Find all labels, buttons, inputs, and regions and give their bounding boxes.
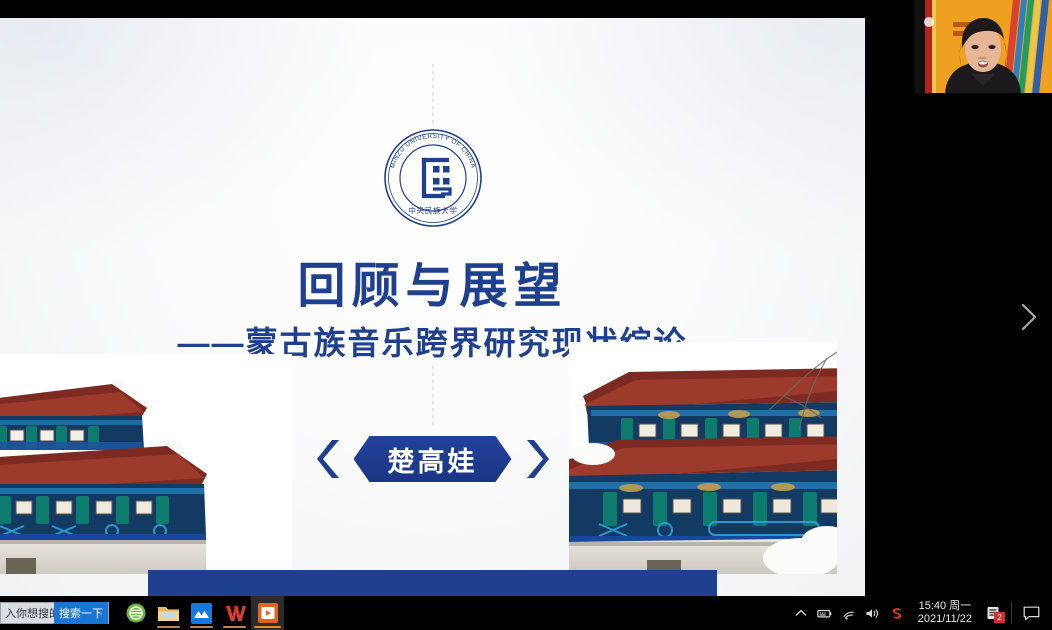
- clock-time: 15:40 周一: [919, 600, 972, 613]
- search-box[interactable]: 入你想搜的 搜索一下: [0, 602, 109, 624]
- taskbar-item-wps-presentation[interactable]: [251, 596, 284, 630]
- show-hidden-icons-button[interactable]: [789, 596, 813, 630]
- slide-bottom-band: [148, 570, 717, 596]
- slide-title: 回顾与展望: [0, 246, 865, 316]
- presentation-slide[interactable]: MINZU UNIVERSITY OF CHINA 中央民族大学 回顾与展望 —…: [0, 18, 865, 596]
- next-slide-button[interactable]: [1012, 292, 1046, 342]
- search-input[interactable]: 入你想搜的: [1, 605, 54, 621]
- clock-date: 2021/11/22: [918, 613, 972, 626]
- notification-center-button[interactable]: 2: [981, 596, 1007, 630]
- presenter-name-banner: 楚高娃: [354, 436, 512, 482]
- chevron-up-icon: [795, 607, 807, 619]
- taskbar-item-sogou-browser[interactable]: [119, 596, 152, 630]
- divider-line-top: [432, 64, 433, 126]
- sogou-ime-icon-button[interactable]: [885, 596, 909, 630]
- tray-divider: [1011, 602, 1012, 624]
- folder-icon: [157, 603, 180, 623]
- notification-badge: 2: [994, 612, 1005, 623]
- screen-root: MINZU UNIVERSITY OF CHINA 中央民族大学 回顾与展望 —…: [0, 0, 1052, 630]
- sogou-s-icon: [889, 606, 904, 621]
- running-indicator: [254, 626, 281, 628]
- green-circle-browser-icon: [125, 602, 147, 624]
- chevron-right-icon: [1020, 302, 1038, 332]
- participant-video-tile[interactable]: [915, 0, 1052, 93]
- search-submit-button[interactable]: 搜索一下: [54, 602, 108, 624]
- presentation-play-icon: [258, 603, 278, 623]
- svg-text:中央民族大学: 中央民族大学: [408, 205, 457, 215]
- taskbar-item-blue-app[interactable]: [185, 596, 218, 630]
- taskbar: 入你想搜的 搜索一下: [0, 596, 1052, 630]
- chevron-left-icon: [317, 436, 343, 482]
- svg-text:MINZU UNIVERSITY OF CHINA: MINZU UNIVERSITY OF CHINA: [389, 133, 477, 169]
- wifi-icon: [842, 607, 856, 620]
- keyboard-icon: [817, 607, 832, 620]
- taskbar-item-wps-office[interactable]: [218, 596, 251, 630]
- speech-bubble-icon: [1023, 606, 1040, 621]
- action-center-button[interactable]: [1016, 596, 1046, 630]
- show-desktop-button[interactable]: [1046, 596, 1052, 630]
- running-indicator: [157, 626, 180, 628]
- university-logo: MINZU UNIVERSITY OF CHINA 中央民族大学: [381, 126, 485, 230]
- running-indicator: [190, 626, 213, 628]
- running-indicator: [223, 626, 246, 628]
- architecture-photo-left: [0, 354, 292, 574]
- presenter-name: 楚高娃: [388, 440, 478, 479]
- clock[interactable]: 15:40 周一 2021/11/22: [909, 596, 981, 630]
- taskbar-apps: [119, 596, 284, 630]
- architecture-photo-right: [569, 342, 837, 574]
- volume-icon-button[interactable]: [861, 596, 885, 630]
- system-tray: 15:40 周一 2021/11/22 2: [789, 596, 1052, 630]
- network-icon-button[interactable]: [837, 596, 861, 630]
- divider-line-middle: [432, 366, 433, 428]
- speaker-icon: [865, 607, 880, 620]
- wps-w-icon: [224, 603, 246, 623]
- taskbar-item-file-explorer[interactable]: [152, 596, 185, 630]
- input-device-icon-button[interactable]: [813, 596, 837, 630]
- blue-mountain-icon: [191, 603, 212, 624]
- chevron-right-icon: [523, 436, 549, 482]
